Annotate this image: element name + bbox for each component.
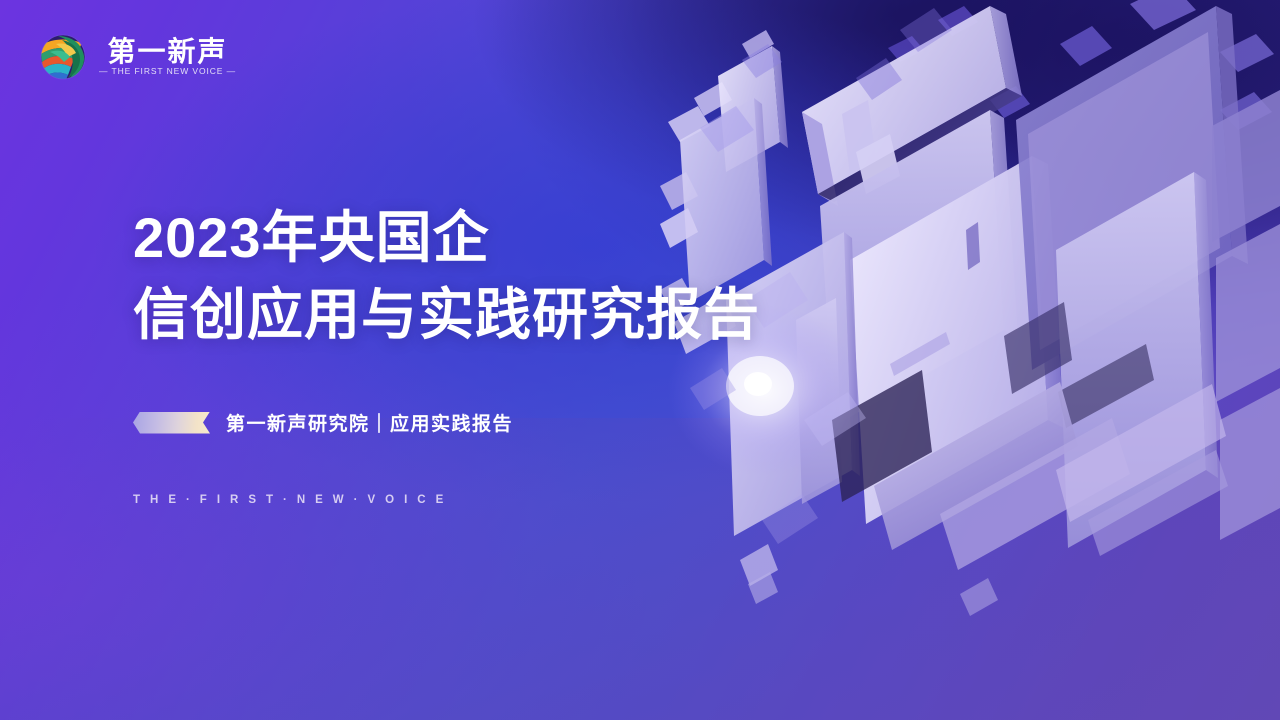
brand-logo[interactable]: 第一新声 — THE FIRST NEW VOICE — xyxy=(38,32,236,82)
cover-title-line-1: 2023年央国企 xyxy=(133,206,893,271)
report-cover-slide: 第一新声 — THE FIRST NEW VOICE — 2023年央国企 信创… xyxy=(0,0,1280,720)
brand-name-en: — THE FIRST NEW VOICE — xyxy=(99,67,236,76)
first-new-voice-globe-logo-icon xyxy=(38,32,88,82)
brand-name-cn: 第一新声 xyxy=(108,38,228,66)
cover-subtitle: 第一新声研究院｜应用实践报告 xyxy=(226,409,513,436)
globe-logo-svg xyxy=(38,32,88,82)
cover-title-line-2: 信创应用与实践研究报告 xyxy=(133,283,893,348)
gradient-hexagon-bar-icon xyxy=(133,412,210,434)
cover-title-block: 2023年央国企 信创应用与实践研究报告 xyxy=(133,206,893,348)
brand-logo-text: 第一新声 — THE FIRST NEW VOICE — xyxy=(99,38,236,76)
brand-tagline: T H E · F I R S T · N E W · V O I C E xyxy=(133,494,447,506)
floating-diamonds-overlay xyxy=(0,0,1280,720)
cover-subtitle-row: 第一新声研究院｜应用实践报告 xyxy=(133,409,513,436)
